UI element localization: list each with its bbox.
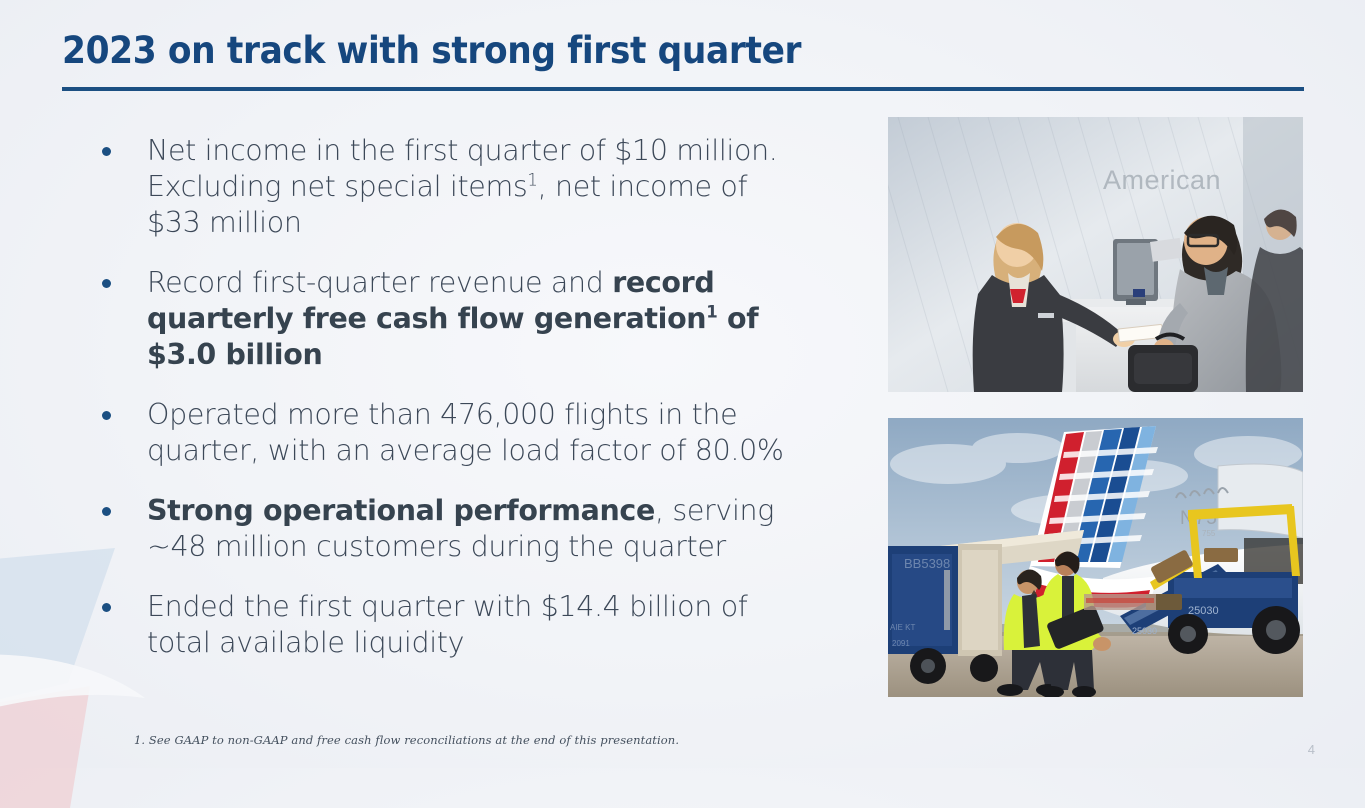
bullet-list: Net income in the first quarter of $10 m… [96, 133, 806, 661]
bullet-segment: 1 [527, 171, 537, 190]
svg-text:American: American [1103, 165, 1221, 195]
bullet-item-flights-load-factor: Operated more than 476,000 flights in th… [96, 397, 806, 469]
bullet-segment: Ended the first quarter with $14.4 billi… [147, 590, 747, 659]
page-title: 2023 on track with strong first quarter [62, 30, 1217, 73]
bullet-segment: 1 [706, 303, 717, 322]
title-block: 2023 on track with strong first quarter [62, 30, 1304, 91]
bullet-segment: Strong operational performance [147, 494, 655, 527]
bullet-marker-icon [102, 507, 111, 516]
svg-text:BB5398: BB5398 [904, 556, 950, 571]
bullet-text: Ended the first quarter with $14.4 billi… [147, 589, 806, 661]
svg-text:755: 755 [1202, 529, 1216, 538]
svg-text:25030: 25030 [1132, 626, 1157, 636]
page-number: 4 [1308, 742, 1315, 757]
bullet-item-operational-performance: Strong operational performance, serving … [96, 493, 806, 565]
bullet-text: Operated more than 476,000 flights in th… [147, 397, 806, 469]
bullet-text: Record first-quarter revenue and record … [147, 265, 806, 373]
bullet-marker-icon [102, 147, 111, 156]
bullet-item-total-liquidity: Ended the first quarter with $14.4 billi… [96, 589, 806, 661]
photo-checkin: American [888, 117, 1303, 392]
bullet-marker-icon [102, 603, 111, 612]
bullet-segment: Operated more than 476,000 flights in th… [147, 398, 784, 467]
svg-text:AIE KT: AIE KT [890, 623, 915, 632]
bullet-segment: Record first-quarter revenue and [147, 266, 612, 299]
svg-text:2091: 2091 [892, 639, 910, 648]
bullet-marker-icon [102, 411, 111, 420]
bullet-item-record-revenue-fcf: Record first-quarter revenue and record … [96, 265, 806, 373]
bullet-text: Net income in the first quarter of $10 m… [147, 133, 806, 241]
photo-ramp: N755US 755 25030 25030 [888, 418, 1303, 697]
bullet-item-net-income: Net income in the first quarter of $10 m… [96, 133, 806, 241]
bullet-marker-icon [102, 279, 111, 288]
bullet-text: Strong operational performance, serving … [147, 493, 806, 565]
title-divider [62, 87, 1304, 91]
footnote: 1. See GAAP to non-GAAP and free cash fl… [134, 733, 679, 747]
